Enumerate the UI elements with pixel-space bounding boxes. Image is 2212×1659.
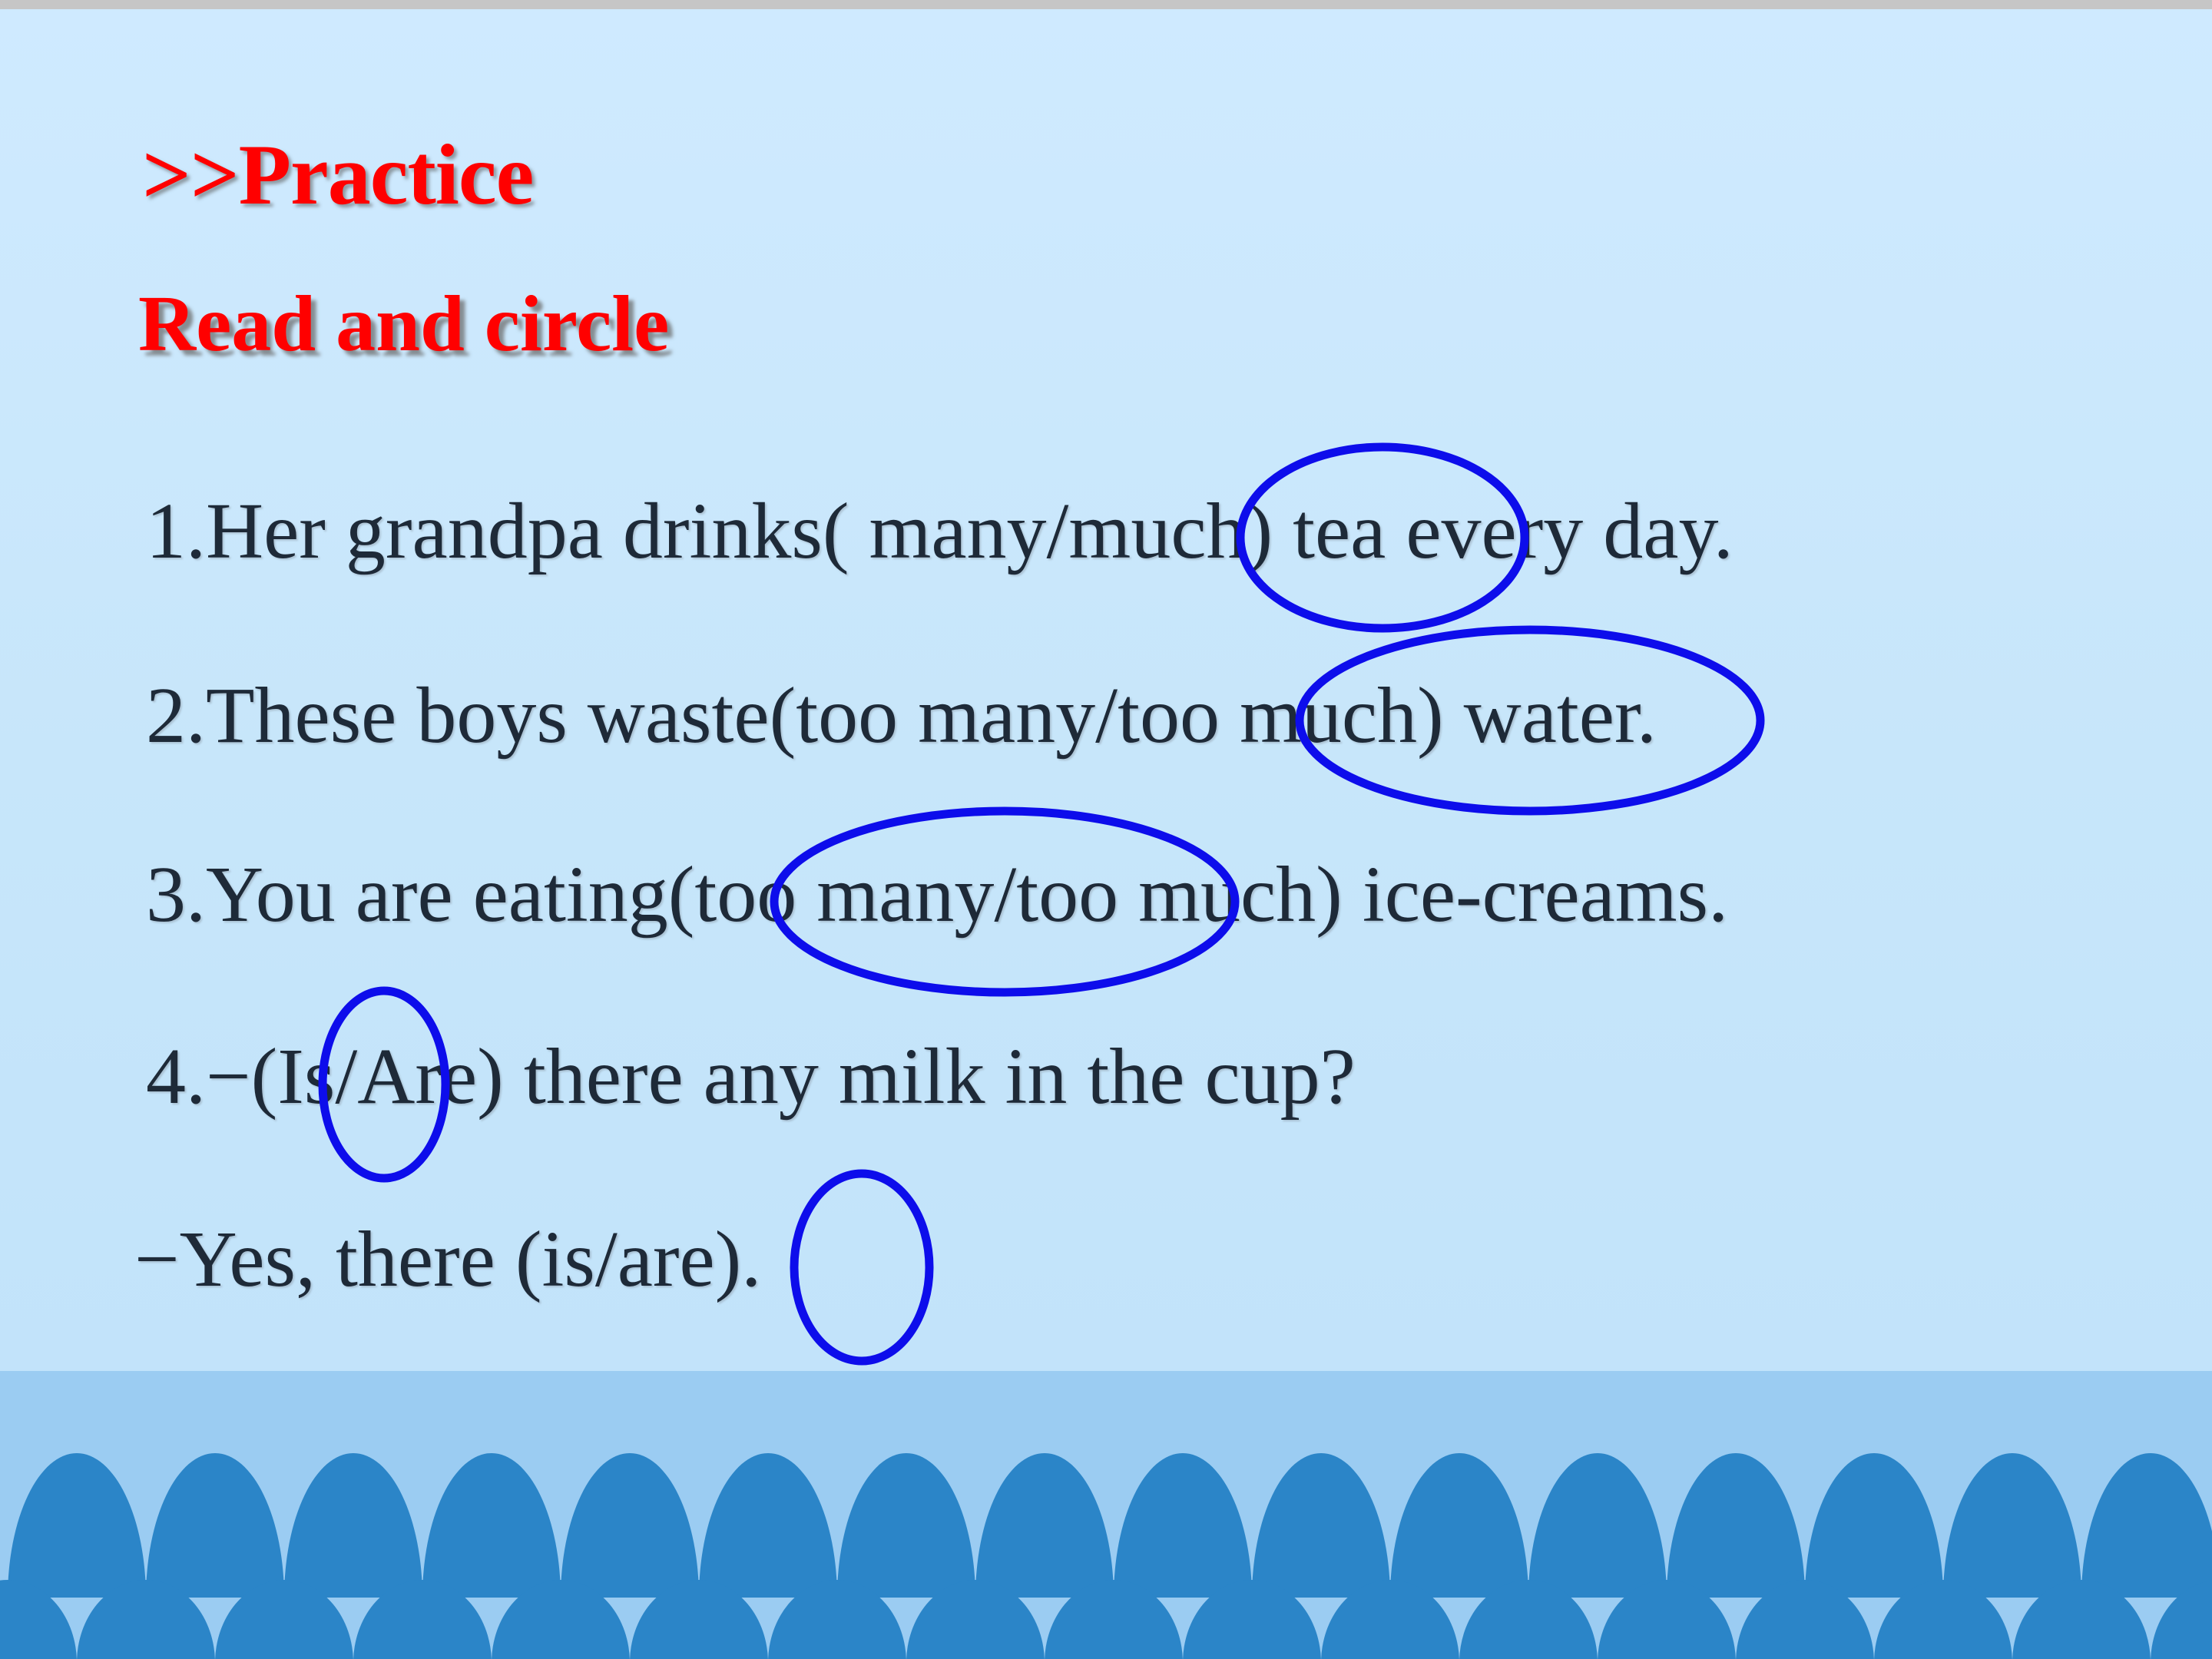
exercise-line-1: 1.Her grandpa drinks( many/much) tea eve… bbox=[146, 492, 1734, 571]
exercise-line-4: 4.−(Is/Are) there any milk in the cup? bbox=[146, 1037, 1356, 1117]
heading-read-and-circle: Read and circle bbox=[138, 284, 669, 364]
exercise-line-2: 2.These boys waste(too many/too much) wa… bbox=[146, 676, 1657, 756]
bottom-decorative-band bbox=[0, 1371, 2212, 1659]
arch-row-back bbox=[0, 1452, 2212, 1598]
slide-canvas: >>Practice Read and circle 1.Her grandpa… bbox=[0, 0, 2212, 1659]
arch-row-front bbox=[0, 1578, 2212, 1659]
heading-practice: >>Practice bbox=[142, 132, 533, 218]
exercise-line-3: 3.You are eating(too many/too much) ice-… bbox=[146, 855, 1728, 935]
top-gray-strip bbox=[0, 0, 2212, 9]
exercise-line-5-answer: −Yes, there (is/are). bbox=[134, 1220, 761, 1300]
